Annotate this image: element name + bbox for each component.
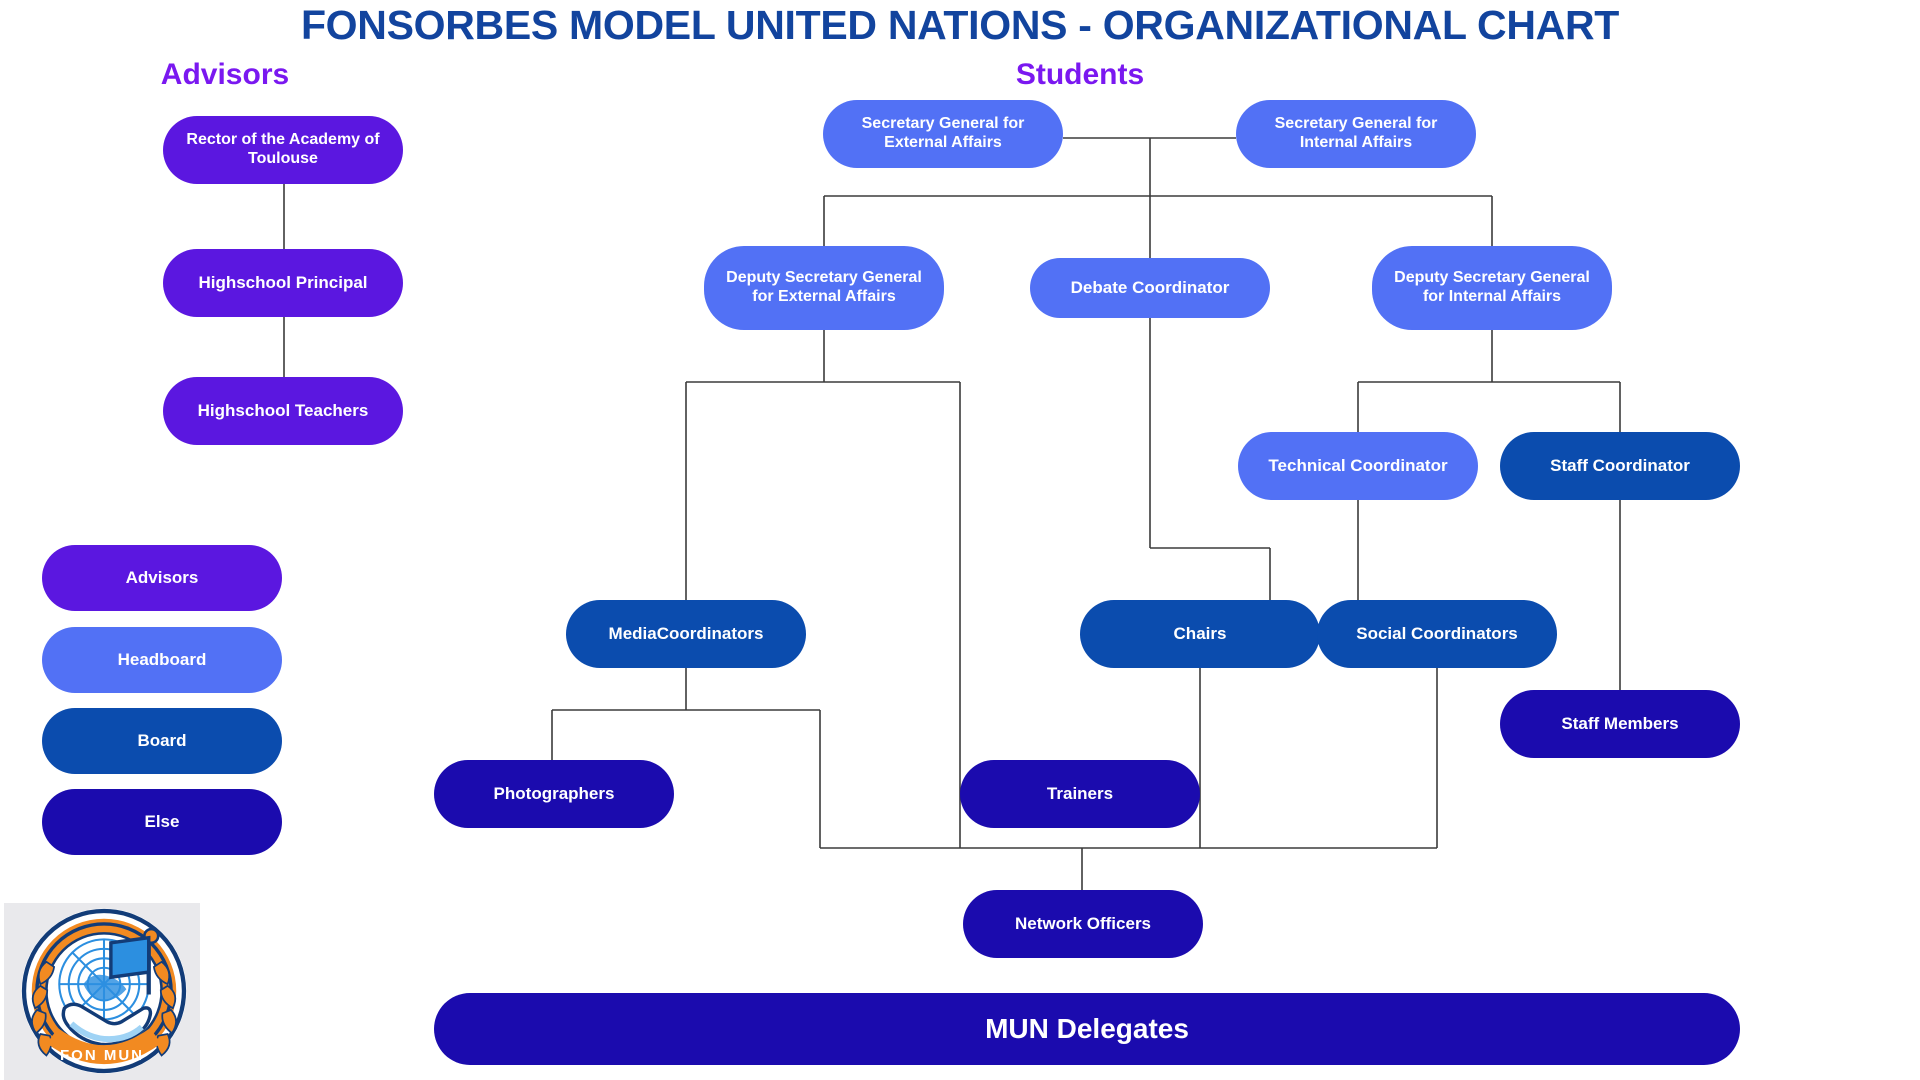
- node-social-coordinators[interactable]: Social Coordinators: [1317, 600, 1557, 668]
- node-label: Secretary General for Internal Affairs: [1246, 115, 1466, 153]
- legend-label: Board: [137, 731, 186, 751]
- node-trainers[interactable]: Trainers: [960, 760, 1200, 828]
- node-highschool-teachers[interactable]: Highschool Teachers: [163, 377, 403, 445]
- node-highschool-principal[interactable]: Highschool Principal: [163, 249, 403, 317]
- node-network-officers[interactable]: Network Officers: [963, 890, 1203, 958]
- node-label: Highschool Teachers: [198, 401, 369, 421]
- node-label: Photographers: [494, 784, 615, 804]
- legend-label: Headboard: [118, 650, 207, 670]
- node-label: Staff Coordinator: [1550, 456, 1690, 476]
- node-label: Social Coordinators: [1356, 624, 1518, 644]
- node-chairs[interactable]: Chairs: [1080, 600, 1320, 668]
- legend-item-headboard[interactable]: Headboard: [42, 627, 282, 693]
- node-secretary-general-for-external-affairs[interactable]: Secretary General for External Affairs: [823, 100, 1063, 168]
- node-deputy-secretary-general-for-external-affairs[interactable]: Deputy Secretary General for External Af…: [704, 246, 944, 330]
- node-secretary-general-for-internal-affairs[interactable]: Secretary General for Internal Affairs: [1236, 100, 1476, 168]
- node-label: Rector of the Academy of Toulouse: [173, 131, 393, 169]
- node-label: Debate Coordinator: [1071, 278, 1230, 298]
- node-staff-members[interactable]: Staff Members: [1500, 690, 1740, 758]
- node-staff-coordinator[interactable]: Staff Coordinator: [1500, 432, 1740, 500]
- node-label: Deputy Secretary General for External Af…: [714, 269, 934, 307]
- node-label: MediaCoordinators: [609, 624, 764, 644]
- legend-item-advisors[interactable]: Advisors: [42, 545, 282, 611]
- node-label: Highschool Principal: [198, 273, 367, 293]
- node-label: Secretary General for External Affairs: [833, 115, 1053, 153]
- legend-label: Else: [145, 812, 180, 832]
- node-mun-delegates[interactable]: MUN Delegates: [434, 993, 1740, 1065]
- node-label: Technical Coordinator: [1268, 456, 1447, 476]
- node-photographers[interactable]: Photographers: [434, 760, 674, 828]
- node-label: Trainers: [1047, 784, 1113, 804]
- node-label: Staff Members: [1561, 714, 1678, 734]
- node-debate-coordinator[interactable]: Debate Coordinator: [1030, 258, 1270, 318]
- node-label: Deputy Secretary General for Internal Af…: [1382, 269, 1602, 307]
- logo-caption: FON MUN: [4, 1047, 200, 1064]
- fon-mun-logo: FON MUN: [4, 903, 200, 1080]
- legend-item-board[interactable]: Board: [42, 708, 282, 774]
- node-label: Chairs: [1174, 624, 1227, 644]
- node-rector-of-the-academy-of-toulouse[interactable]: Rector of the Academy of Toulouse: [163, 116, 403, 184]
- legend-label: Advisors: [126, 568, 199, 588]
- node-label: Network Officers: [1015, 914, 1151, 934]
- legend-item-else[interactable]: Else: [42, 789, 282, 855]
- org-chart-canvas: FONSORBES MODEL UNITED NATIONS - ORGANIZ…: [0, 0, 1920, 1080]
- node-technical-coordinator[interactable]: Technical Coordinator: [1238, 432, 1478, 500]
- node-mediacoordinators[interactable]: MediaCoordinators: [566, 600, 806, 668]
- node-deputy-secretary-general-for-internal-affairs[interactable]: Deputy Secretary General for Internal Af…: [1372, 246, 1612, 330]
- node-label: MUN Delegates: [985, 1012, 1189, 1045]
